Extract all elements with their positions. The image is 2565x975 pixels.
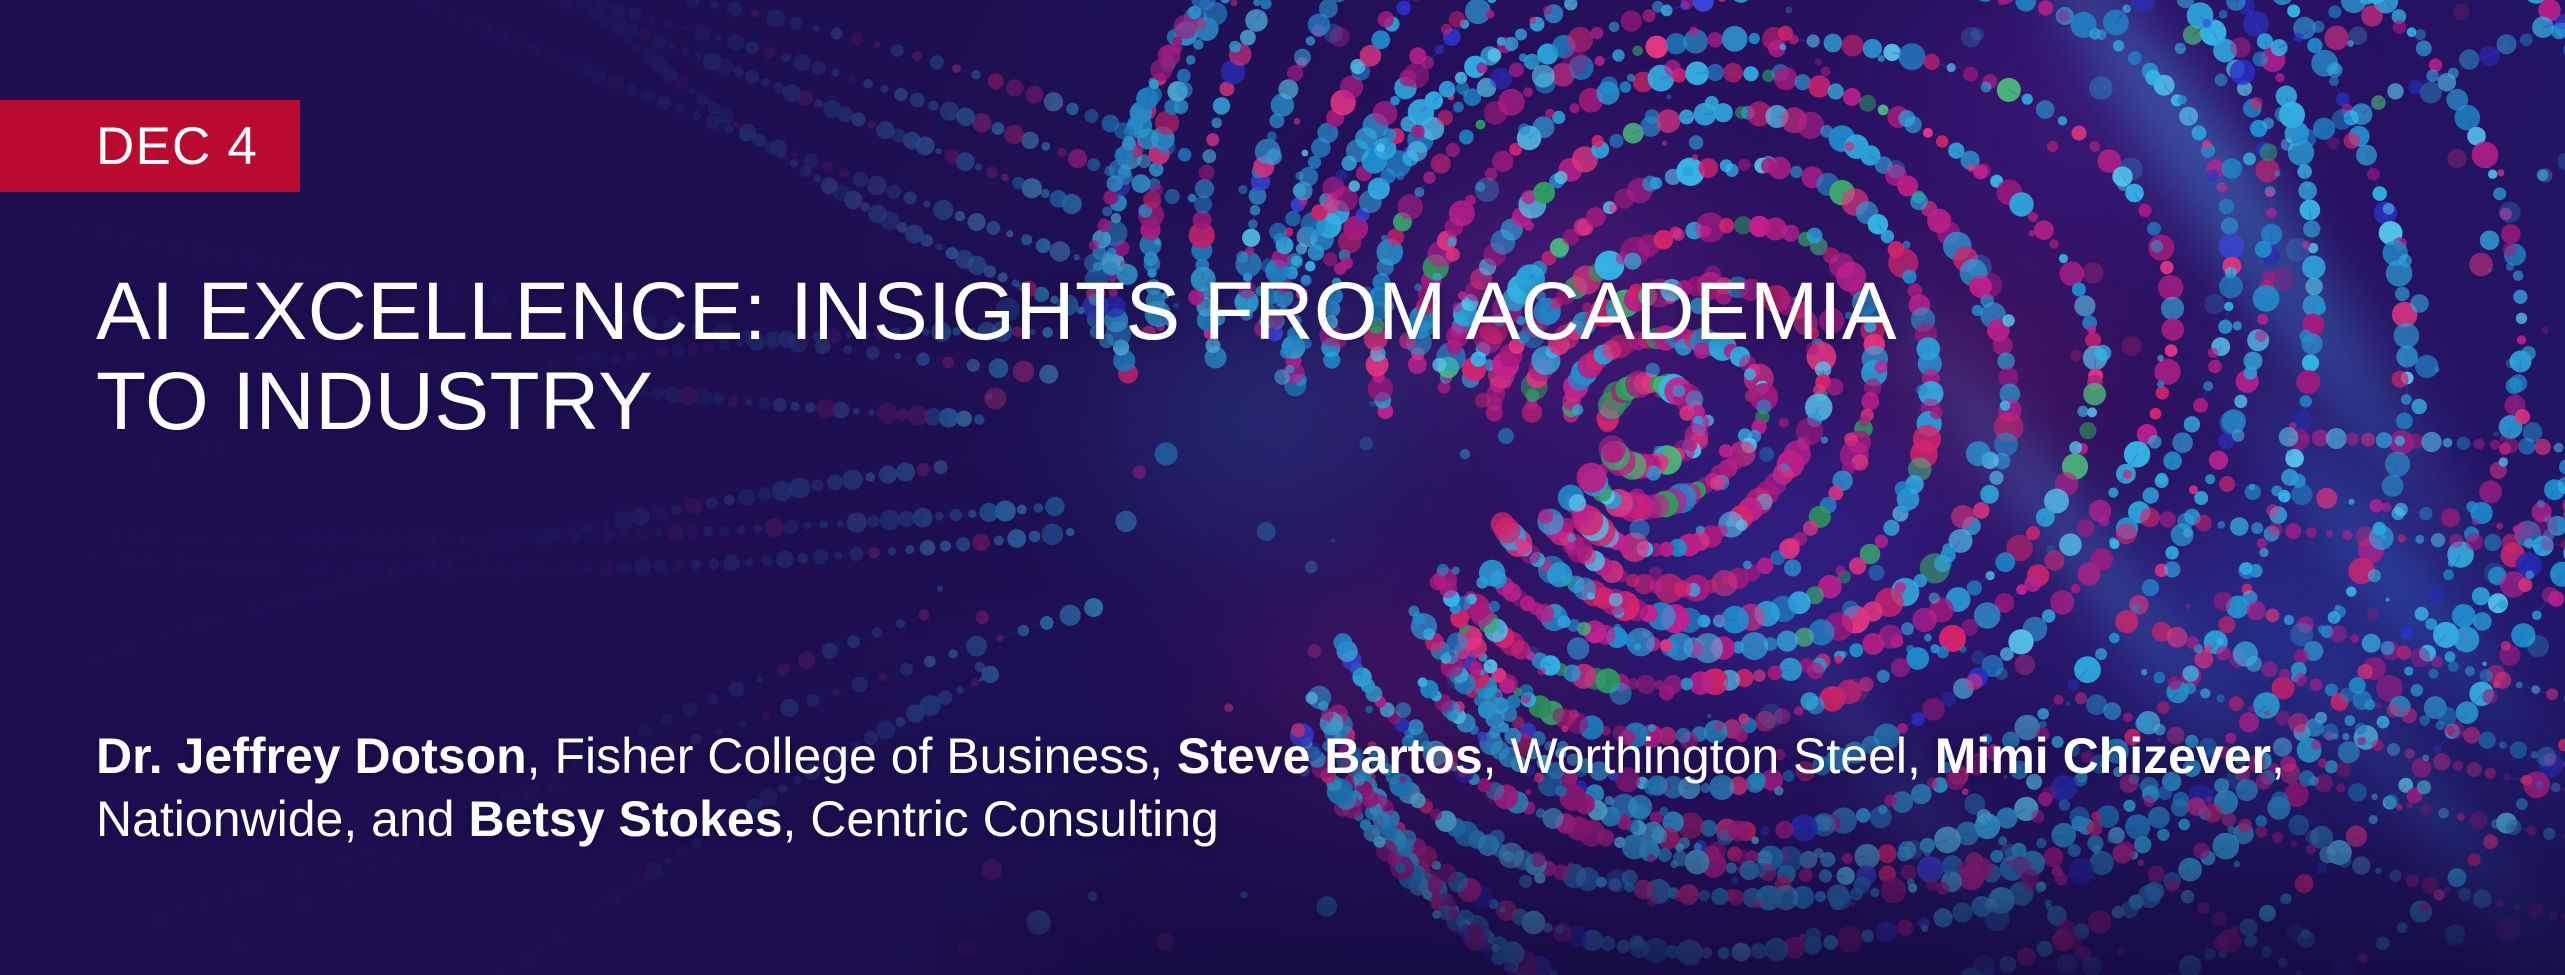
- event-banner: DEC 4 AI EXCELLENCE: INSIGHTS FROM ACADE…: [0, 0, 2565, 975]
